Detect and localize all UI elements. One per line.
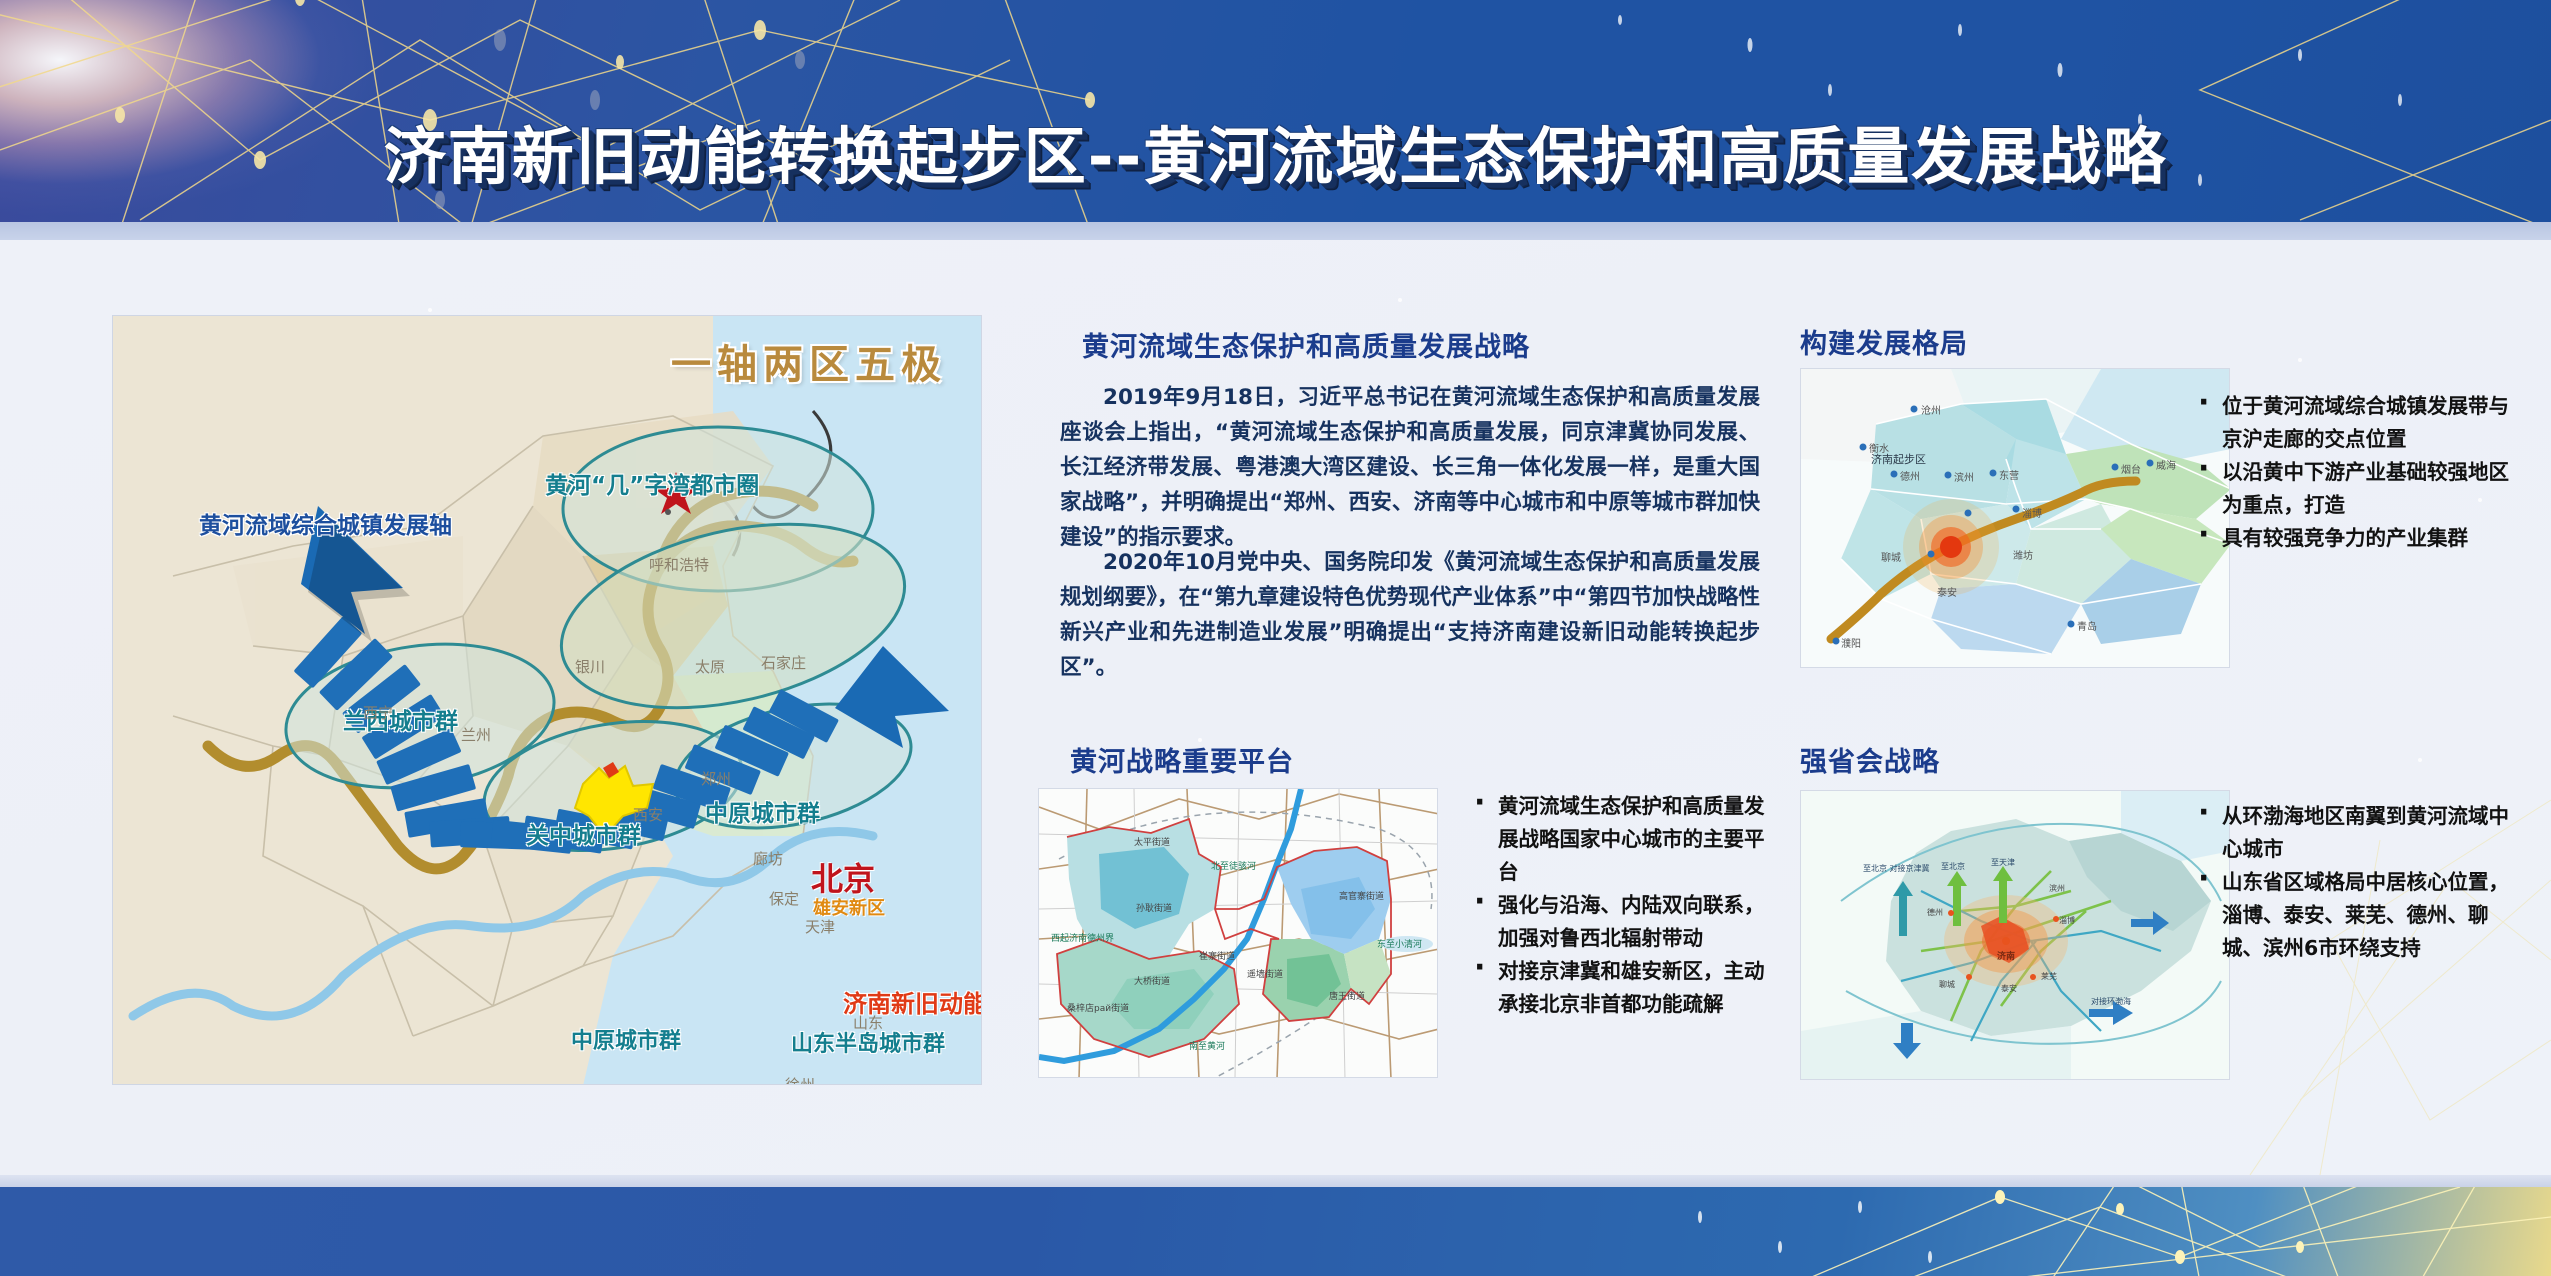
list-item: 对接京津冀和雄安新区，主动承接北京非首都功能疏解: [1468, 955, 1768, 1021]
capital-label-laiwu: 莱芜: [2041, 971, 2057, 982]
map-city-xian: 西安: [633, 804, 663, 825]
pattern-label-weifang: 潍坊: [2013, 547, 2033, 562]
map-city-taiyuan: 太原: [695, 656, 725, 677]
section-title-pattern: 构建发展格局: [1800, 322, 1968, 361]
map-label-cluster-zhongyuan-2: 中原城市群: [571, 1023, 681, 1055]
map-city-shandong: 山东: [853, 1012, 883, 1033]
header-banner: 济南新旧动能转换起步区--黄河流域生态保护和高质量发展战略: [0, 0, 2551, 222]
page-title: 济南新旧动能转换起步区--黄河流域生态保护和高质量发展战略: [384, 106, 2167, 196]
map-label-axis: 黄河流域综合城镇发展轴: [199, 506, 452, 540]
capital-label-liaocheng: 聊城: [1939, 979, 1955, 990]
pattern-label-yantai: 烟台: [2121, 461, 2141, 476]
platform-label-taiping: 太平街道: [1134, 835, 1170, 848]
map-city-huhehaote: 呼和浩特: [649, 554, 709, 575]
list-item: 具有较强竞争力的产业集群: [2192, 522, 2512, 555]
map-city-xining: 西宁: [363, 702, 393, 723]
pattern-label-cangzhou: 沧州: [1921, 402, 1941, 417]
capital-label-dezhou: 德州: [1927, 907, 1943, 918]
platform-label-daqiao: 大桥街道: [1134, 974, 1170, 987]
list-item: 强化与沿海、内陆双向联系，加强对鲁西北辐射带动: [1468, 889, 1768, 955]
list-item: 位于黄河流域综合城镇发展带与京沪走廊的交点位置: [2192, 390, 2512, 456]
capital-label-taian: 泰安: [2001, 983, 2017, 994]
pattern-label-dongying: 东营: [1999, 467, 2019, 482]
map-city-lanzhou: 兰州: [461, 724, 491, 745]
footer-network-decoration: [0, 1187, 2551, 1276]
platform-label-sungeng: 孙耿街道: [1136, 901, 1172, 914]
platform-label-west-boundary: 西起济南德州界: [1051, 931, 1114, 944]
list-item: 黄河流域生态保护和高质量发展战略国家中心城市的主要平台: [1468, 790, 1768, 889]
strong-capital-map-graphic: [1801, 791, 2230, 1080]
section-title-strategy: 黄河流域生态保护和高质量发展战略: [1082, 325, 1530, 364]
main-map-title: 一轴两区五极: [671, 332, 947, 390]
capital-map[interactable]: 至北京 对接京津冀 至北京 至天津 对接环渤海 济南 淄博 泰安 聊城 德州 滨…: [1800, 790, 2230, 1080]
pattern-label-zibo: 淄博: [2022, 505, 2042, 520]
capital-label-to-bohai: 对接环渤海: [2091, 996, 2131, 1007]
platform-map[interactable]: 太平街道 北至徒骇河 孙耿街道 崔寨街道 高官寨街道 西起济南德州界 大桥街道 …: [1038, 788, 1438, 1078]
capital-label-zibo: 淄博: [2059, 915, 2075, 926]
map-city-tianjin: 天津: [805, 916, 835, 937]
pattern-label-dezhou: 德州: [1900, 468, 1920, 483]
platform-label-sangzidian: 桑梓店рай街道: [1067, 1001, 1129, 1014]
pattern-label-taian: 泰安: [1937, 584, 1957, 599]
pattern-label-puyang: 濮阳: [1841, 635, 1861, 650]
pattern-map[interactable]: 济南起步区 沧州 衡水 德州 滨州 东营 烟台 威海 聊城 淄博 潍坊 泰安 青…: [1800, 368, 2230, 668]
platform-label-north-boundary: 北至徒骇河: [1211, 859, 1256, 872]
strategy-paragraph-1: 2019年9月18日，习近平总书记在黄河流域生态保护和高质量发展座谈会上指出，“…: [1060, 380, 1760, 555]
map-city-xuzhou: 徐州: [785, 1074, 815, 1085]
capital-bullet-list: 从环渤海地区南翼到黄河流域中心城市 山东省区域格局中居核心位置，淄博、泰安、莱芜…: [2192, 800, 2512, 965]
pattern-label-liaocheng: 聊城: [1881, 549, 1901, 564]
capital-label-binzhou: 滨州: [2049, 883, 2065, 894]
platform-label-south-boundary: 南至黄河: [1189, 1039, 1225, 1052]
map-label-cluster-guanzhong: 关中城市群: [526, 816, 641, 850]
pattern-label-binzhou: 滨州: [1954, 469, 1974, 484]
capital-label-to-beijing: 至北京: [1941, 861, 1965, 872]
platform-bullet-list: 黄河流域生态保护和高质量发展战略国家中心城市的主要平台 强化与沿海、内陆双向联系…: [1468, 790, 1768, 1021]
header-strip: [0, 222, 2551, 240]
map-label-cluster-lanxi: 兰西城市群: [343, 702, 458, 736]
capital-label-to-tianjin: 至天津: [1991, 857, 2015, 868]
strategy-paragraph-2: 2020年10月党中央、国务院印发《黄河流域生态保护和高质量发展规划纲要》，在“…: [1060, 545, 1760, 685]
platform-label-cuizhai: 崔寨街道: [1199, 949, 1235, 962]
capital-label-jinan: 济南: [1997, 949, 2015, 962]
map-label-cluster-jizi: 黄河“几”字湾都市圈: [545, 466, 759, 500]
list-item: 山东省区域格局中居核心位置，淄博、泰安、莱芜、德州、聊城、滨州6市环绕支持: [2192, 866, 2512, 965]
pattern-bullet-list: 位于黄河流域综合城镇发展带与京沪走廊的交点位置 以沿黄中下游产业基础较强地区为重…: [2192, 390, 2512, 555]
map-city-zhengzhou: 郑州: [701, 768, 731, 789]
footer-divider: [0, 1175, 2551, 1187]
section-title-platform: 黄河战略重要平台: [1070, 740, 1294, 779]
platform-label-gaoguanzhai: 高官寨街道: [1339, 889, 1384, 902]
section-title-capital: 强省会战略: [1800, 740, 1940, 779]
map-city-yinchuan: 银川: [575, 656, 605, 677]
capital-label-to-beijing-jjj: 至北京 对接京津冀: [1863, 863, 1930, 874]
platform-label-east-boundary: 东至小清河: [1377, 937, 1422, 950]
list-item: 以沿黄中下游产业基础较强地区为重点，打造: [2192, 456, 2512, 522]
pattern-label-weihai: 威海: [2156, 457, 2176, 472]
footer-band: [0, 1187, 2551, 1276]
main-map-panel[interactable]: 一轴两区五极 黄河流域综合城镇发展轴 黄河“几”字湾都市圈 兰西城市群 关中城市…: [112, 315, 982, 1085]
platform-label-yaoqiang: 遥墙街道: [1247, 967, 1283, 980]
map-city-shijiazhuang: 石家庄: [761, 652, 806, 673]
pattern-label-hengshui: 衡水: [1869, 440, 1889, 455]
map-label-cluster-zhongyuan: 中原城市群: [705, 794, 820, 828]
china-map-graphic: [113, 316, 982, 1085]
map-city-baoding: 保定: [769, 888, 799, 909]
platform-label-tangwang: 唐王街道: [1329, 989, 1365, 1002]
shandong-map-graphic: [1801, 369, 2230, 668]
map-city-langfang: 廊坊: [753, 848, 783, 869]
pattern-label-qingdao: 青岛: [2077, 618, 2097, 633]
list-item: 从环渤海地区南翼到黄河流域中心城市: [2192, 800, 2512, 866]
